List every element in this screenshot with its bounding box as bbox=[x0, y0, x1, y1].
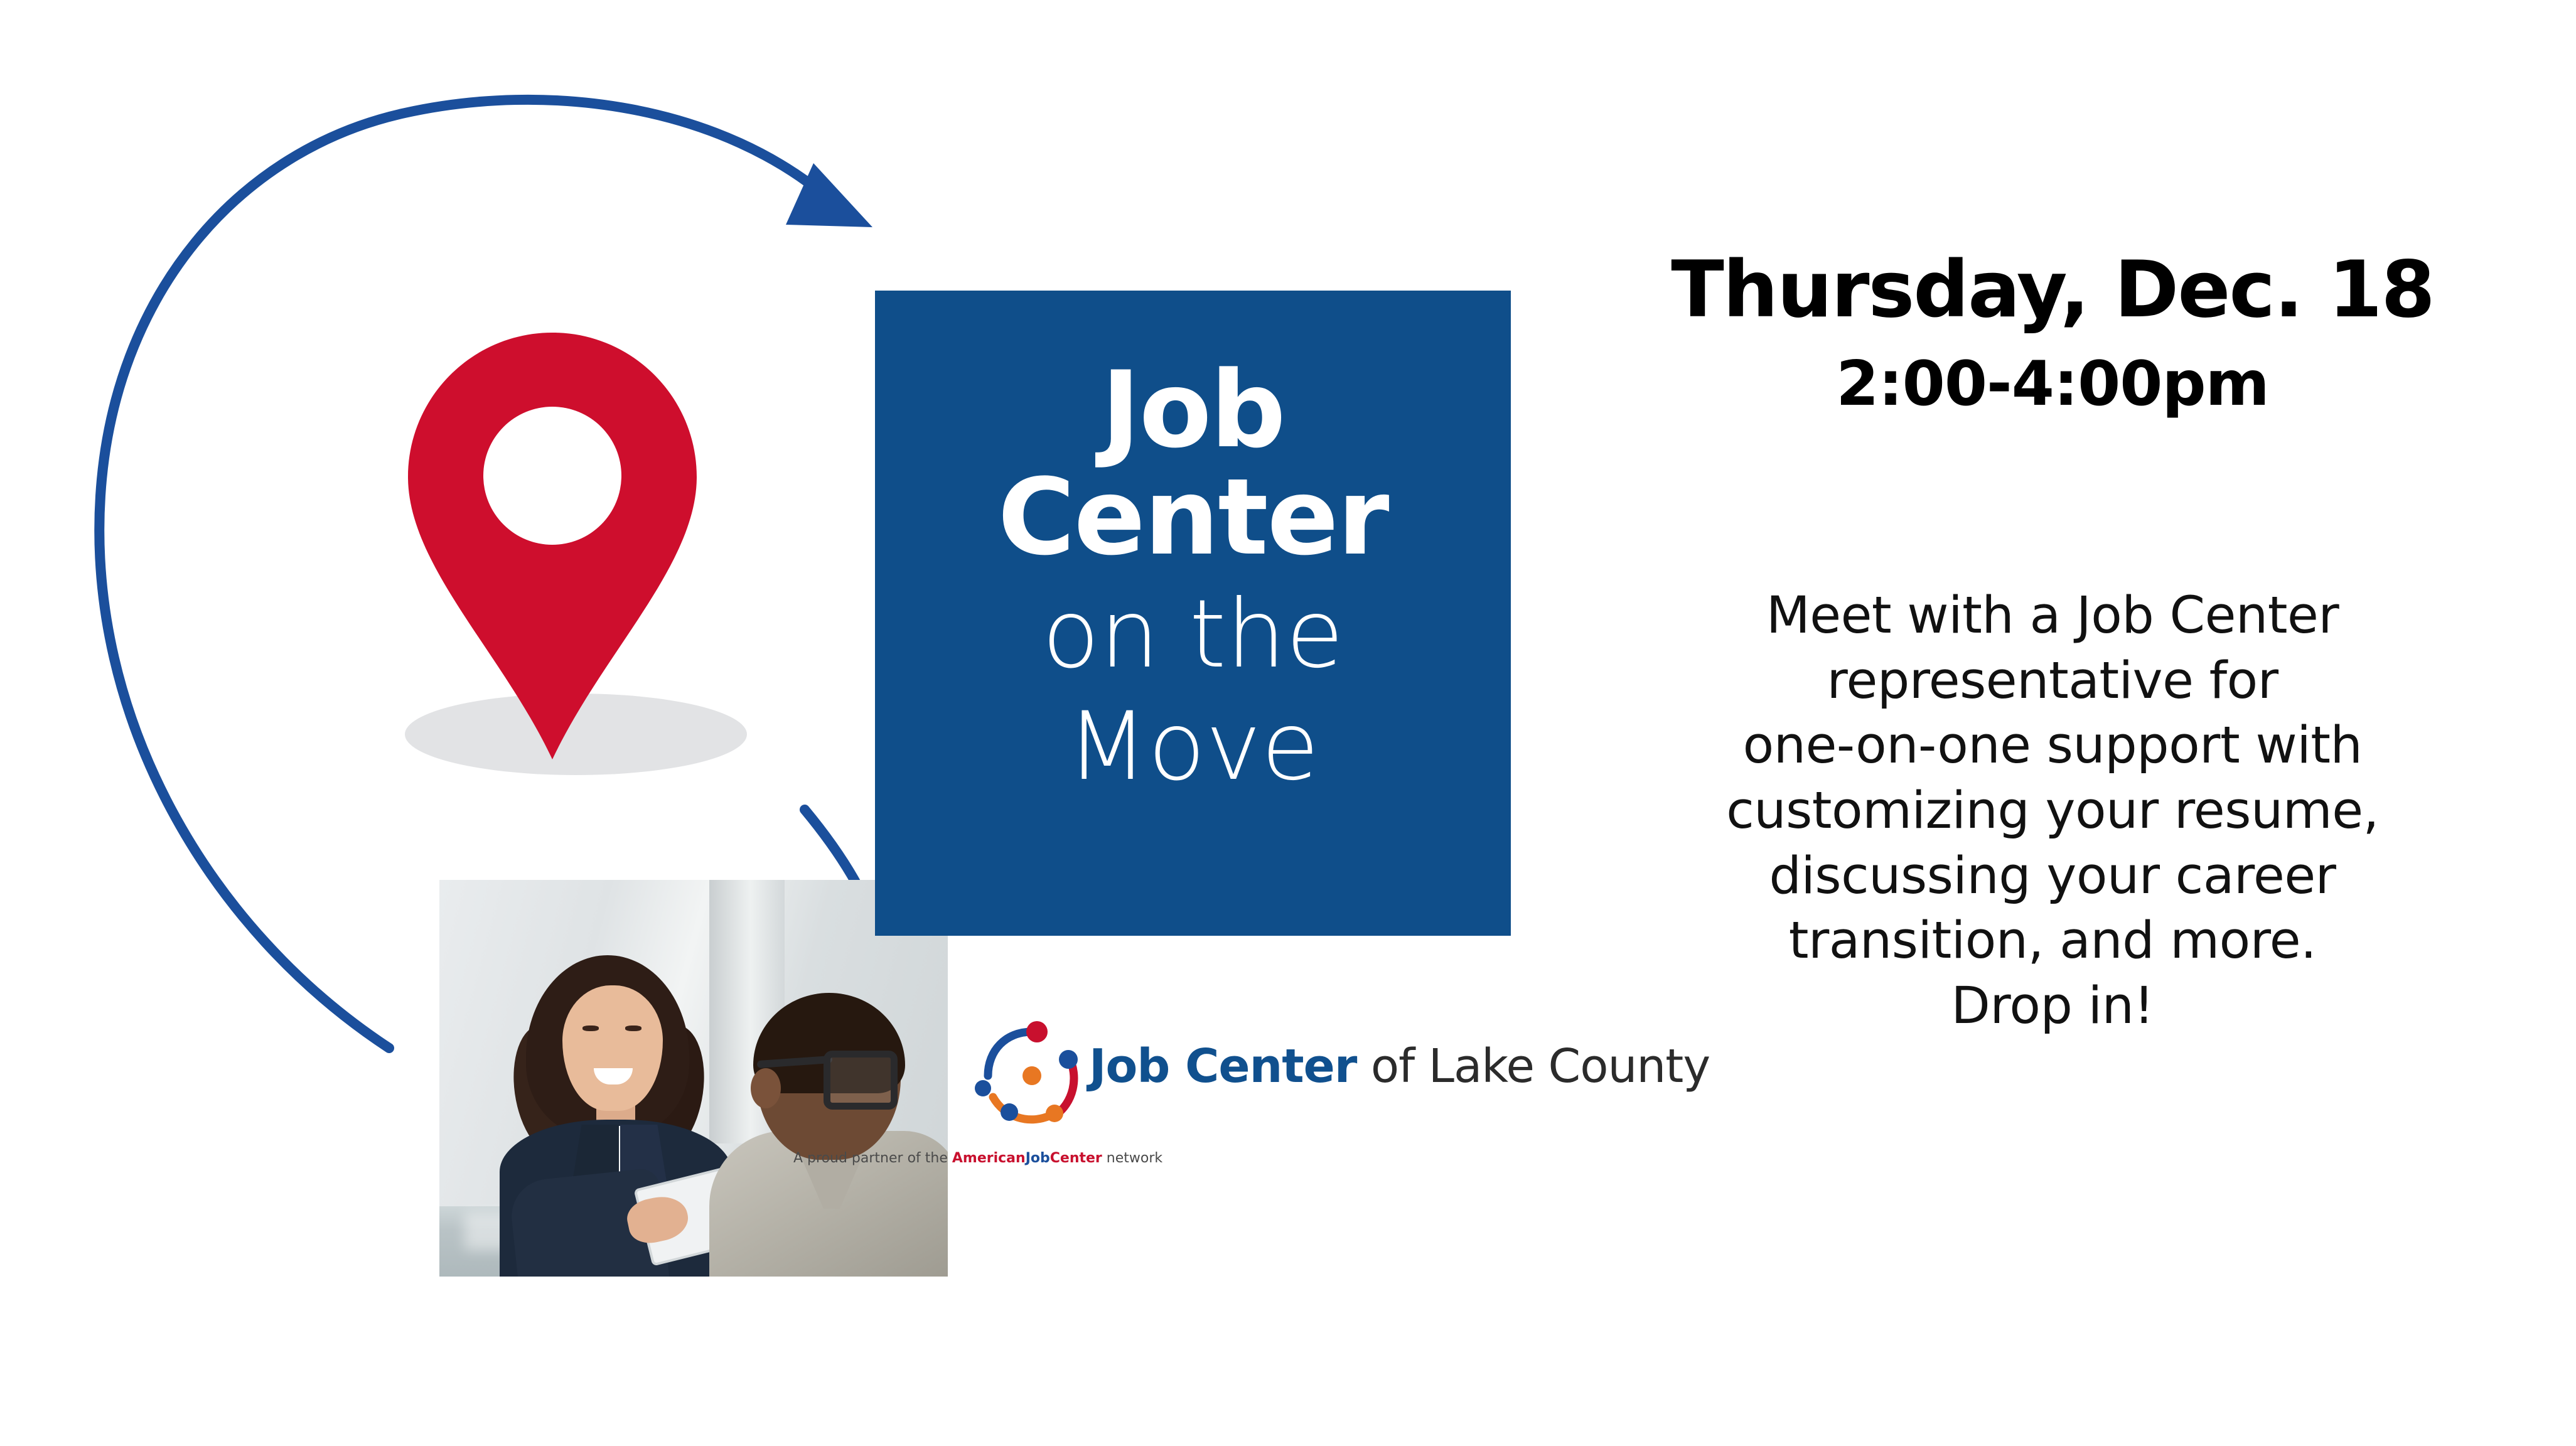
event-description-line-1: Meet with a Job Center bbox=[1645, 584, 2461, 649]
consultation-photo bbox=[439, 880, 948, 1277]
event-description-line-3: one-on-one support with bbox=[1645, 714, 2461, 779]
event-description-line-2: representative for bbox=[1645, 649, 2461, 714]
event-description-line-5: discussing your career bbox=[1645, 844, 2461, 909]
brand-line-center: Center bbox=[875, 464, 1511, 571]
flyer-left-composition: Job Center on the Move Job Center of Lak… bbox=[0, 0, 1569, 1446]
brand-line-move: Move bbox=[875, 698, 1511, 797]
jclc-wordmark: Job Center of Lake County bbox=[1089, 1039, 1710, 1093]
tagline-job: Job bbox=[1026, 1150, 1050, 1166]
event-time: 2:00-4:00pm bbox=[1645, 353, 2461, 415]
tagline-prefix: A proud partner of the bbox=[793, 1150, 952, 1166]
jclc-tagline: A proud partner of the AmericanJobCenter… bbox=[793, 1150, 1162, 1166]
flyer-right-column: Thursday, Dec. 18 2:00-4:00pm Meet with … bbox=[1645, 0, 2461, 1446]
brand-line-on-the: on the bbox=[875, 586, 1511, 685]
brand-line-job: Job bbox=[875, 356, 1511, 464]
event-description: Meet with a Job Centerrepresentative for… bbox=[1645, 584, 2461, 1039]
jclc-word-job: Job bbox=[1089, 1039, 1169, 1093]
event-description-line-6: transition, and more. bbox=[1645, 909, 2461, 974]
event-date: Thursday, Dec. 18 bbox=[1645, 251, 2461, 329]
jclc-word-center: Center bbox=[1169, 1039, 1356, 1093]
event-description-line-7: Drop in! bbox=[1645, 974, 2461, 1039]
job-center-of-lake-county-logo: Job Center of Lake County bbox=[974, 1012, 1501, 1169]
tagline-suffix: network bbox=[1102, 1150, 1162, 1166]
map-pin-icon bbox=[402, 326, 703, 766]
job-center-on-the-move-box: Job Center on the Move bbox=[875, 291, 1511, 936]
tagline-center: Center bbox=[1050, 1150, 1102, 1166]
jclc-logo-mark-icon bbox=[974, 1018, 1090, 1134]
tagline-american: American bbox=[952, 1150, 1026, 1166]
event-description-line-4: customizing your resume, bbox=[1645, 779, 2461, 844]
